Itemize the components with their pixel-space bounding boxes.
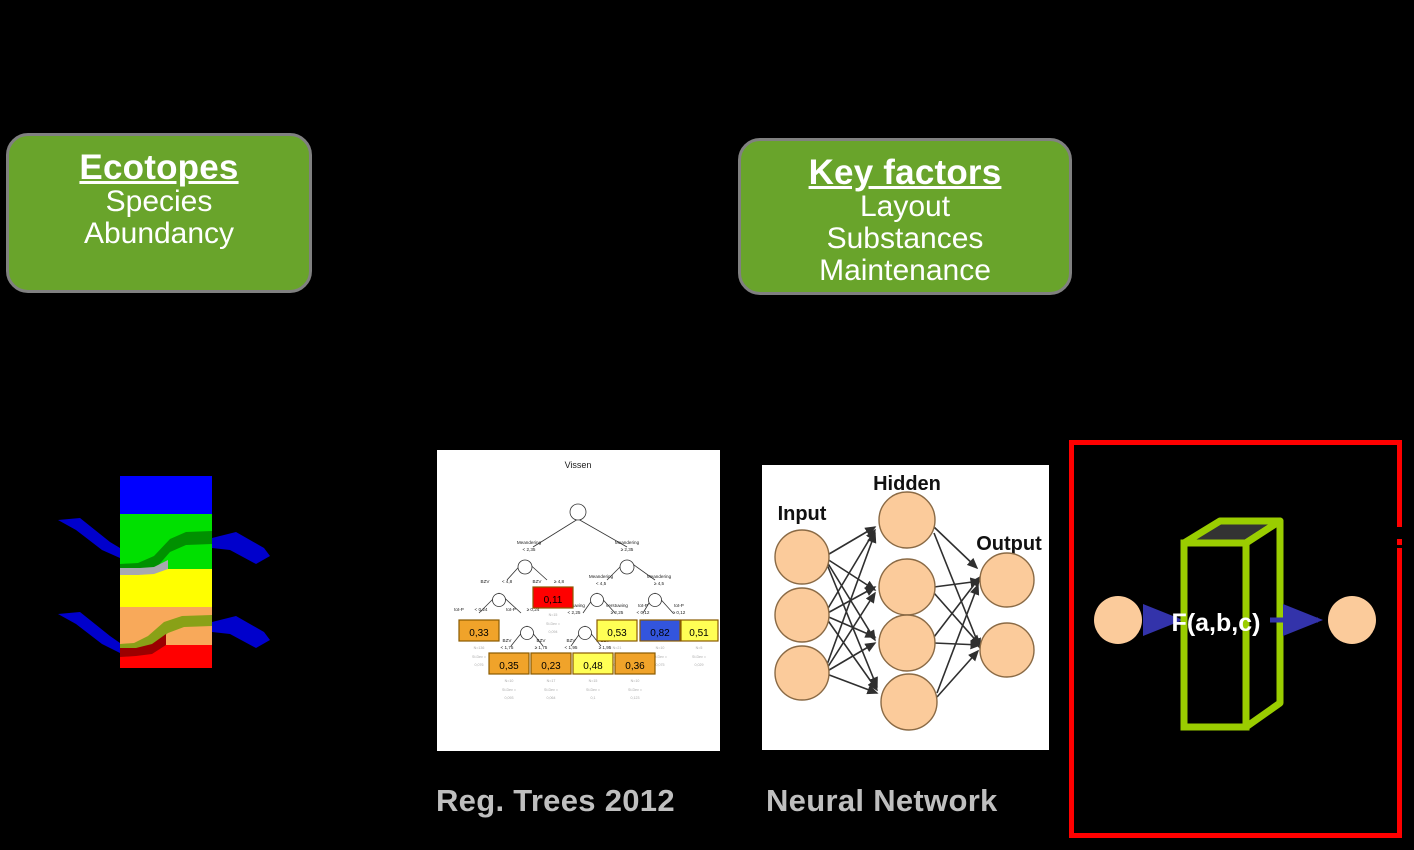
leaf-stdev: 0,064 (547, 696, 556, 700)
split-cond: < 1,95 (565, 645, 578, 650)
leaf-n: N=10 (631, 679, 640, 683)
split-cond: ≥ 4,5 (654, 581, 665, 586)
leaf-stdev: 0,093 (505, 696, 514, 700)
leaf-value: 0,48 (583, 661, 603, 672)
leaf-stdev-label: St.Dev = (692, 655, 706, 659)
split-cond: ≥ 0,12 (673, 610, 686, 615)
red-border-notch (1397, 527, 1402, 539)
arrow-bottom-right (212, 616, 270, 648)
split-label: tot-P (454, 607, 464, 612)
arrow-top-left (58, 518, 120, 558)
leaf-n: N=5 (696, 646, 703, 650)
key-factors-line-maintenance: Maintenance (741, 256, 1069, 286)
split-label: Meandering (647, 574, 672, 579)
ecotopes-line-species: Species (9, 187, 309, 217)
key-factors-title: Key factors (741, 155, 1069, 190)
split-label: BZV (481, 579, 491, 584)
split-cond: < 4,5 (596, 581, 607, 586)
leaf-stdev-label: St.Dev = (502, 688, 516, 692)
input-node (1094, 596, 1142, 644)
ecotope-cross-section-figure (58, 476, 270, 668)
split-cond: < 0,12 (637, 610, 650, 615)
leaf-n: N=21 (613, 646, 622, 650)
split-label: BZV (567, 638, 577, 643)
leaf-value: 0,33 (469, 628, 489, 639)
split-label: tot-P (506, 607, 516, 612)
split-label: BZV (537, 638, 547, 643)
split-label: Meandering (615, 540, 640, 545)
function-label: F(a,b,c) (1172, 609, 1261, 637)
split-cond: < 2,35 (523, 547, 536, 552)
leaf-n: N=15 (549, 613, 558, 617)
leaf-value: 0,53 (607, 628, 627, 639)
neural-network-caption: Neural Network (766, 783, 998, 819)
leaf-n: N=17 (547, 679, 556, 683)
leaf-value: 0,35 (499, 661, 519, 672)
split-label: tot-P (674, 603, 684, 608)
split-label: BZV (533, 579, 543, 584)
leaf-value: 0,11 (544, 595, 563, 606)
key-factors-line-layout: Layout (741, 192, 1069, 222)
leaf-stdev: 0,1 (591, 696, 596, 700)
leaf-stdev: 0,123 (631, 696, 640, 700)
leaf-value: 0,36 (625, 661, 645, 672)
leaf-n: N=136 (474, 646, 485, 650)
split-cond: < 0,24 (475, 607, 488, 612)
ecotopes-box[interactable]: Ecotopes Species Abundancy (6, 133, 312, 293)
leaf-n: N=15 (589, 679, 598, 683)
split-cond: < 4,8 (502, 579, 513, 584)
red-border-notch-2 (1397, 545, 1402, 548)
leaf-value: 0,23 (541, 661, 561, 672)
leaf-value: 0,51 (689, 628, 709, 639)
nn-output-label: Output (976, 533, 1042, 555)
output-node (1328, 596, 1376, 644)
leaf-stdev-label: St.Dev = (544, 688, 558, 692)
split-cond: ≥ 1,75 (535, 645, 548, 650)
leaf-stdev: 0,094 (549, 630, 558, 634)
band-water (120, 476, 212, 514)
split-cond: < 2,25 (568, 610, 581, 615)
leaf-stdev-label: St.Dev = (628, 688, 642, 692)
regression-tree-caption: Reg. Trees 2012 (436, 783, 675, 819)
split-label: BZV (503, 638, 513, 643)
split-cond: ≥ 4,8 (554, 579, 565, 584)
slide-canvas: Ecotopes Species Abundancy Key factors L… (0, 0, 1414, 850)
regression-tree-panel: Vissen (437, 450, 720, 751)
split-cond: < 1,75 (501, 645, 514, 650)
ecotopes-title: Ecotopes (9, 150, 309, 185)
leaf-stdev: 0,029 (695, 663, 704, 667)
split-label: Meandering (589, 574, 614, 579)
leaf-value: 0,82 (650, 628, 670, 639)
arrow-top-right (212, 532, 270, 564)
leaf-stdev-label: St.Dev = (586, 688, 600, 692)
leaf-n: N=10 (505, 679, 514, 683)
arrow-bottom-left (58, 612, 120, 653)
split-cond: ≥ 2,25 (611, 610, 624, 615)
ecotope-bands (120, 476, 212, 668)
leaf-stdev-label: St.Dev = (472, 655, 486, 659)
function-box-panel[interactable]: F(a,b,c) (1069, 440, 1402, 838)
split-cond: ≥ 1,95 (599, 645, 612, 650)
nn-input-label: Input (778, 503, 827, 525)
leaf-stdev-label: St.Dev = (546, 622, 560, 626)
neural-network-panel: Input Hidden Output (762, 465, 1049, 750)
leaf-n: N=10 (656, 646, 665, 650)
split-label: tot-P (638, 603, 648, 608)
ecotopes-line-abundancy: Abundancy (9, 219, 309, 249)
split-label: verstuwing (606, 603, 628, 608)
split-label: Meandering (517, 540, 542, 545)
split-cond: ≥ 2,35 (621, 547, 634, 552)
leaf-stdev: 0,075 (656, 663, 665, 667)
tree-title: Vissen (565, 460, 592, 470)
key-factors-box[interactable]: Key factors Layout Substances Maintenanc… (738, 138, 1072, 295)
key-factors-line-substances: Substances (741, 224, 1069, 254)
leaf-stdev: 0,076 (475, 663, 484, 667)
